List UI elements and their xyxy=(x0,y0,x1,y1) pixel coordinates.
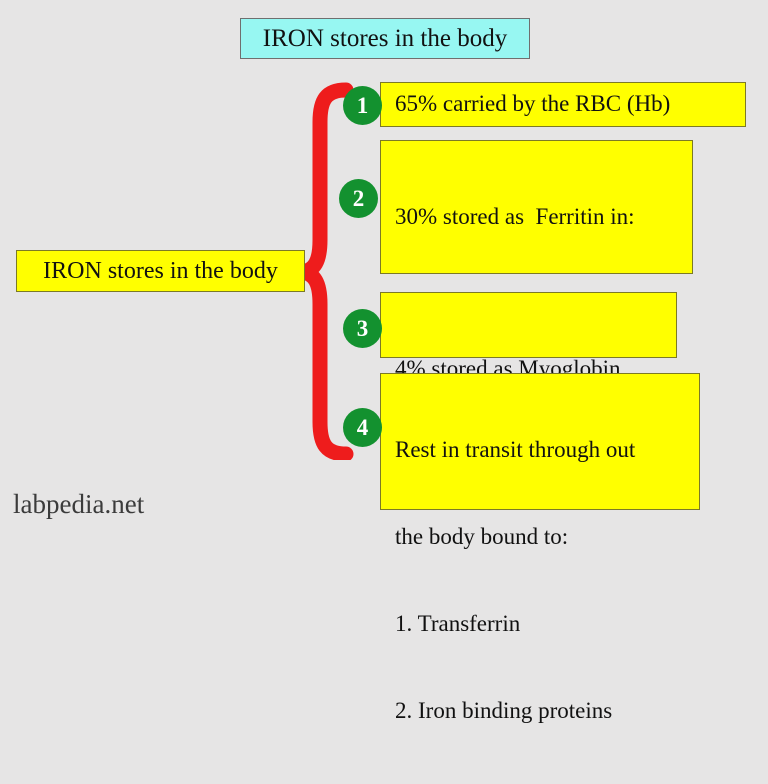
diagram-canvas: IRON stores in the body IRON stores in t… xyxy=(0,0,768,531)
item-box-1-line-1: 65% carried by the RBC (Hb) xyxy=(395,90,670,119)
item-box-2: 30% stored as Ferritin in: 1. liver 2. B… xyxy=(380,140,693,274)
item-box-4-line-2: the body bound to: xyxy=(395,523,689,552)
diagram-title-text: IRON stores in the body xyxy=(263,26,507,51)
step-number-3-label: 3 xyxy=(357,317,369,340)
item-box-4-line-3: 1. Transferrin xyxy=(395,610,689,639)
item-box-4-line-1: Rest in transit through out xyxy=(395,436,689,465)
step-number-2: 2 xyxy=(339,179,378,218)
source-node-label: IRON stores in the body xyxy=(43,259,278,283)
step-number-3: 3 xyxy=(343,309,382,348)
watermark: labpedia.net xyxy=(13,491,144,518)
source-node-box: IRON stores in the body xyxy=(16,250,305,292)
step-number-2-label: 2 xyxy=(353,187,365,210)
step-number-4: 4 xyxy=(343,408,382,447)
step-number-1-label: 1 xyxy=(357,94,369,117)
red-curly-brace-icon xyxy=(296,80,360,460)
item-box-4-line-4: 2. Iron binding proteins xyxy=(395,697,689,726)
watermark-text: labpedia.net xyxy=(13,489,144,519)
item-box-1: 65% carried by the RBC (Hb) xyxy=(380,82,746,127)
item-box-2-line-1: 30% stored as Ferritin in: xyxy=(395,203,682,232)
step-number-4-label: 4 xyxy=(357,416,369,439)
item-box-3: 4% stored as Myoglobin (Sketetal muscles… xyxy=(380,292,677,358)
diagram-title-box: IRON stores in the body xyxy=(240,18,530,59)
item-box-4: Rest in transit through out the body bou… xyxy=(380,373,700,510)
step-number-1: 1 xyxy=(343,86,382,125)
